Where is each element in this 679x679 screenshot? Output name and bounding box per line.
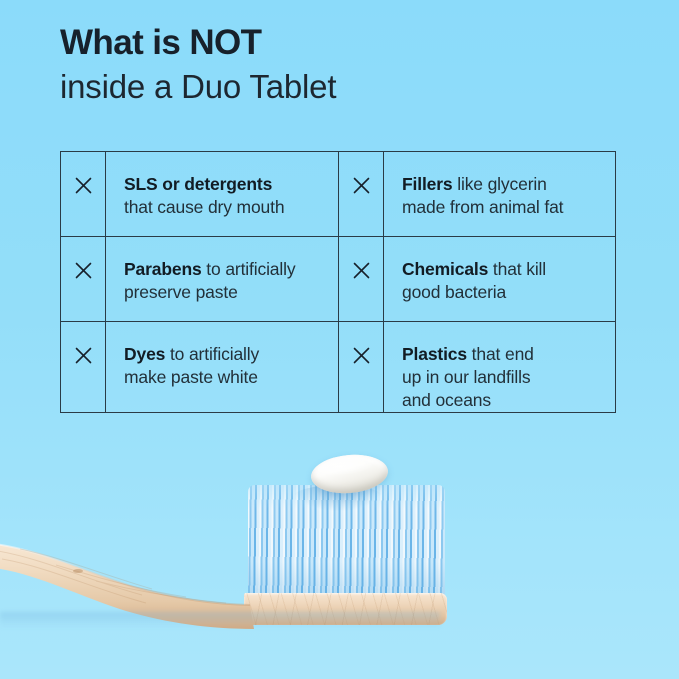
x-mark-icon xyxy=(352,346,371,365)
x-mark-cell xyxy=(61,237,106,321)
table-cell-text: Dyes to artificially make paste white xyxy=(106,322,269,389)
cell-bold-term: Dyes xyxy=(124,344,165,364)
x-mark-icon xyxy=(352,176,371,195)
cell-line2-text: that cause dry mouth xyxy=(124,197,284,217)
exclusions-table: SLS or detergents that cause dry mouth F… xyxy=(60,151,616,413)
cell-line2-text: make paste white xyxy=(124,367,258,387)
table-cell-sls: SLS or detergents that cause dry mouth xyxy=(61,152,338,237)
table-cell-text: Parabens to artificially preserve paste xyxy=(106,237,305,304)
table-cell-text: SLS or detergents that cause dry mouth xyxy=(106,152,294,219)
cell-rest-text: that kill xyxy=(488,259,546,279)
x-mark-icon xyxy=(74,346,93,365)
toothbrush-photo xyxy=(0,430,679,679)
cell-rest-text: that end xyxy=(467,344,534,364)
x-mark-cell xyxy=(339,322,384,412)
cell-line2-text: good bacteria xyxy=(402,282,506,302)
cell-line2-text: preserve paste xyxy=(124,282,238,302)
cell-rest-text: to artificially xyxy=(202,259,296,279)
x-mark-cell xyxy=(61,152,106,236)
cell-rest-text: to artificially xyxy=(165,344,259,364)
infographic-page: What is NOT inside a Duo Tablet SLS or d… xyxy=(0,0,679,679)
cell-line3-text: and oceans xyxy=(402,390,491,410)
table-cell-text: Fillers like glycerin made from animal f… xyxy=(384,152,573,219)
cell-bold-term: Parabens xyxy=(124,259,202,279)
table-cell-text: Chemicals that kill good bacteria xyxy=(384,237,556,304)
x-mark-icon xyxy=(352,261,371,280)
cell-bold-term: Fillers xyxy=(402,174,453,194)
page-title: What is NOT inside a Duo Tablet xyxy=(60,22,620,108)
table-cell-plastics: Plastics that end up in our landfills an… xyxy=(338,322,615,412)
x-mark-icon xyxy=(74,261,93,280)
cell-bold-term: Chemicals xyxy=(402,259,488,279)
handle-shadow xyxy=(0,612,440,628)
cell-line2-text: up in our landfills xyxy=(402,367,530,387)
page-title-line2: inside a Duo Tablet xyxy=(60,66,620,108)
table-cell-chemicals: Chemicals that kill good bacteria xyxy=(338,237,615,322)
cell-line2-text: made from animal fat xyxy=(402,197,563,217)
cell-rest-text: like glycerin xyxy=(453,174,547,194)
page-title-line1: What is NOT xyxy=(60,22,620,64)
x-mark-cell xyxy=(339,237,384,321)
table-cell-text: Plastics that end up in our landfills an… xyxy=(384,322,544,412)
x-mark-icon xyxy=(74,176,93,195)
cell-bold-term: Plastics xyxy=(402,344,467,364)
x-mark-cell xyxy=(61,322,106,412)
cell-bold-term: SLS or detergents xyxy=(124,174,272,194)
table-cell-parabens: Parabens to artificially preserve paste xyxy=(61,237,338,322)
table-cell-dyes: Dyes to artificially make paste white xyxy=(61,322,338,412)
x-mark-cell xyxy=(339,152,384,236)
table-cell-fillers: Fillers like glycerin made from animal f… xyxy=(338,152,615,237)
